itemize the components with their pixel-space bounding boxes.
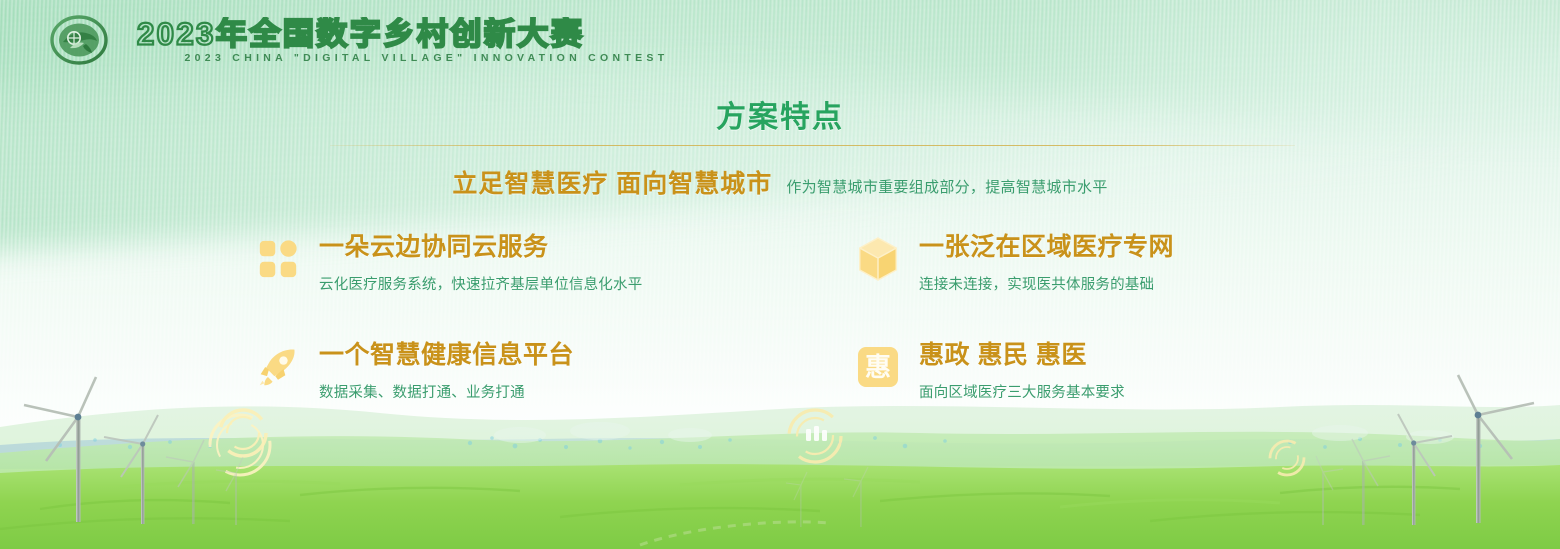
headline-sub: 作为智慧城市重要组成部分，提高智慧城市水平 — [786, 176, 1107, 197]
feature-text: 一张泛在区域医疗专网 连接未连接，实现医共体服务的基础 — [919, 232, 1174, 294]
headline-row: 立足智慧医疗 面向智慧城市 作为智慧城市重要组成部分，提高智慧城市水平 — [0, 164, 1560, 200]
feature-item: 一张泛在区域医疗专网 连接未连接，实现医共体服务的基础 — [855, 232, 1315, 340]
feature-desc: 云化医疗服务系统，快速拉齐基层单位信息化水平 — [319, 273, 642, 294]
brand-title-cn-text: 2023年全国数字乡村创新大赛 — [137, 17, 584, 51]
hills-landscape-illustration — [0, 369, 1560, 549]
feature-title: 一朵云边协同云服务 — [319, 234, 642, 262]
poster-canvas: 2023年全国数字乡村创新大赛 2023 CHINA "DIGITAL VILL… — [0, 0, 1560, 549]
brand-title-en: 2023 CHINA "DIGITAL VILLAGE" INNOVATION … — [120, 52, 730, 64]
page-title: 方案特点 — [0, 92, 1560, 136]
headline-main: 立足智慧医疗 面向智慧城市 — [452, 164, 772, 200]
globe-leaf-emblem-icon — [50, 14, 108, 66]
title-divider — [330, 145, 1295, 146]
feature-text: 一朵云边协同云服务 云化医疗服务系统，快速拉齐基层单位信息化水平 — [319, 232, 642, 294]
feature-title: 一个智慧健康信息平台 — [319, 342, 574, 370]
feature-item: 一朵云边协同云服务 云化医疗服务系统，快速拉齐基层单位信息化水平 — [255, 232, 855, 340]
feature-title: 惠政 惠民 惠医 — [919, 342, 1125, 370]
brand-wordmark: 2023年全国数字乡村创新大赛 2023 CHINA "DIGITAL VILL… — [120, 17, 730, 64]
grid-squares-icon — [255, 234, 301, 284]
feature-title: 一张泛在区域医疗专网 — [919, 234, 1174, 262]
brand-header: 2023年全国数字乡村创新大赛 2023 CHINA "DIGITAL VILL… — [50, 14, 730, 66]
brand-title-cn: 2023年全国数字乡村创新大赛 — [120, 17, 730, 51]
cube-icon — [855, 234, 901, 284]
feature-desc: 连接未连接，实现医共体服务的基础 — [919, 273, 1174, 294]
